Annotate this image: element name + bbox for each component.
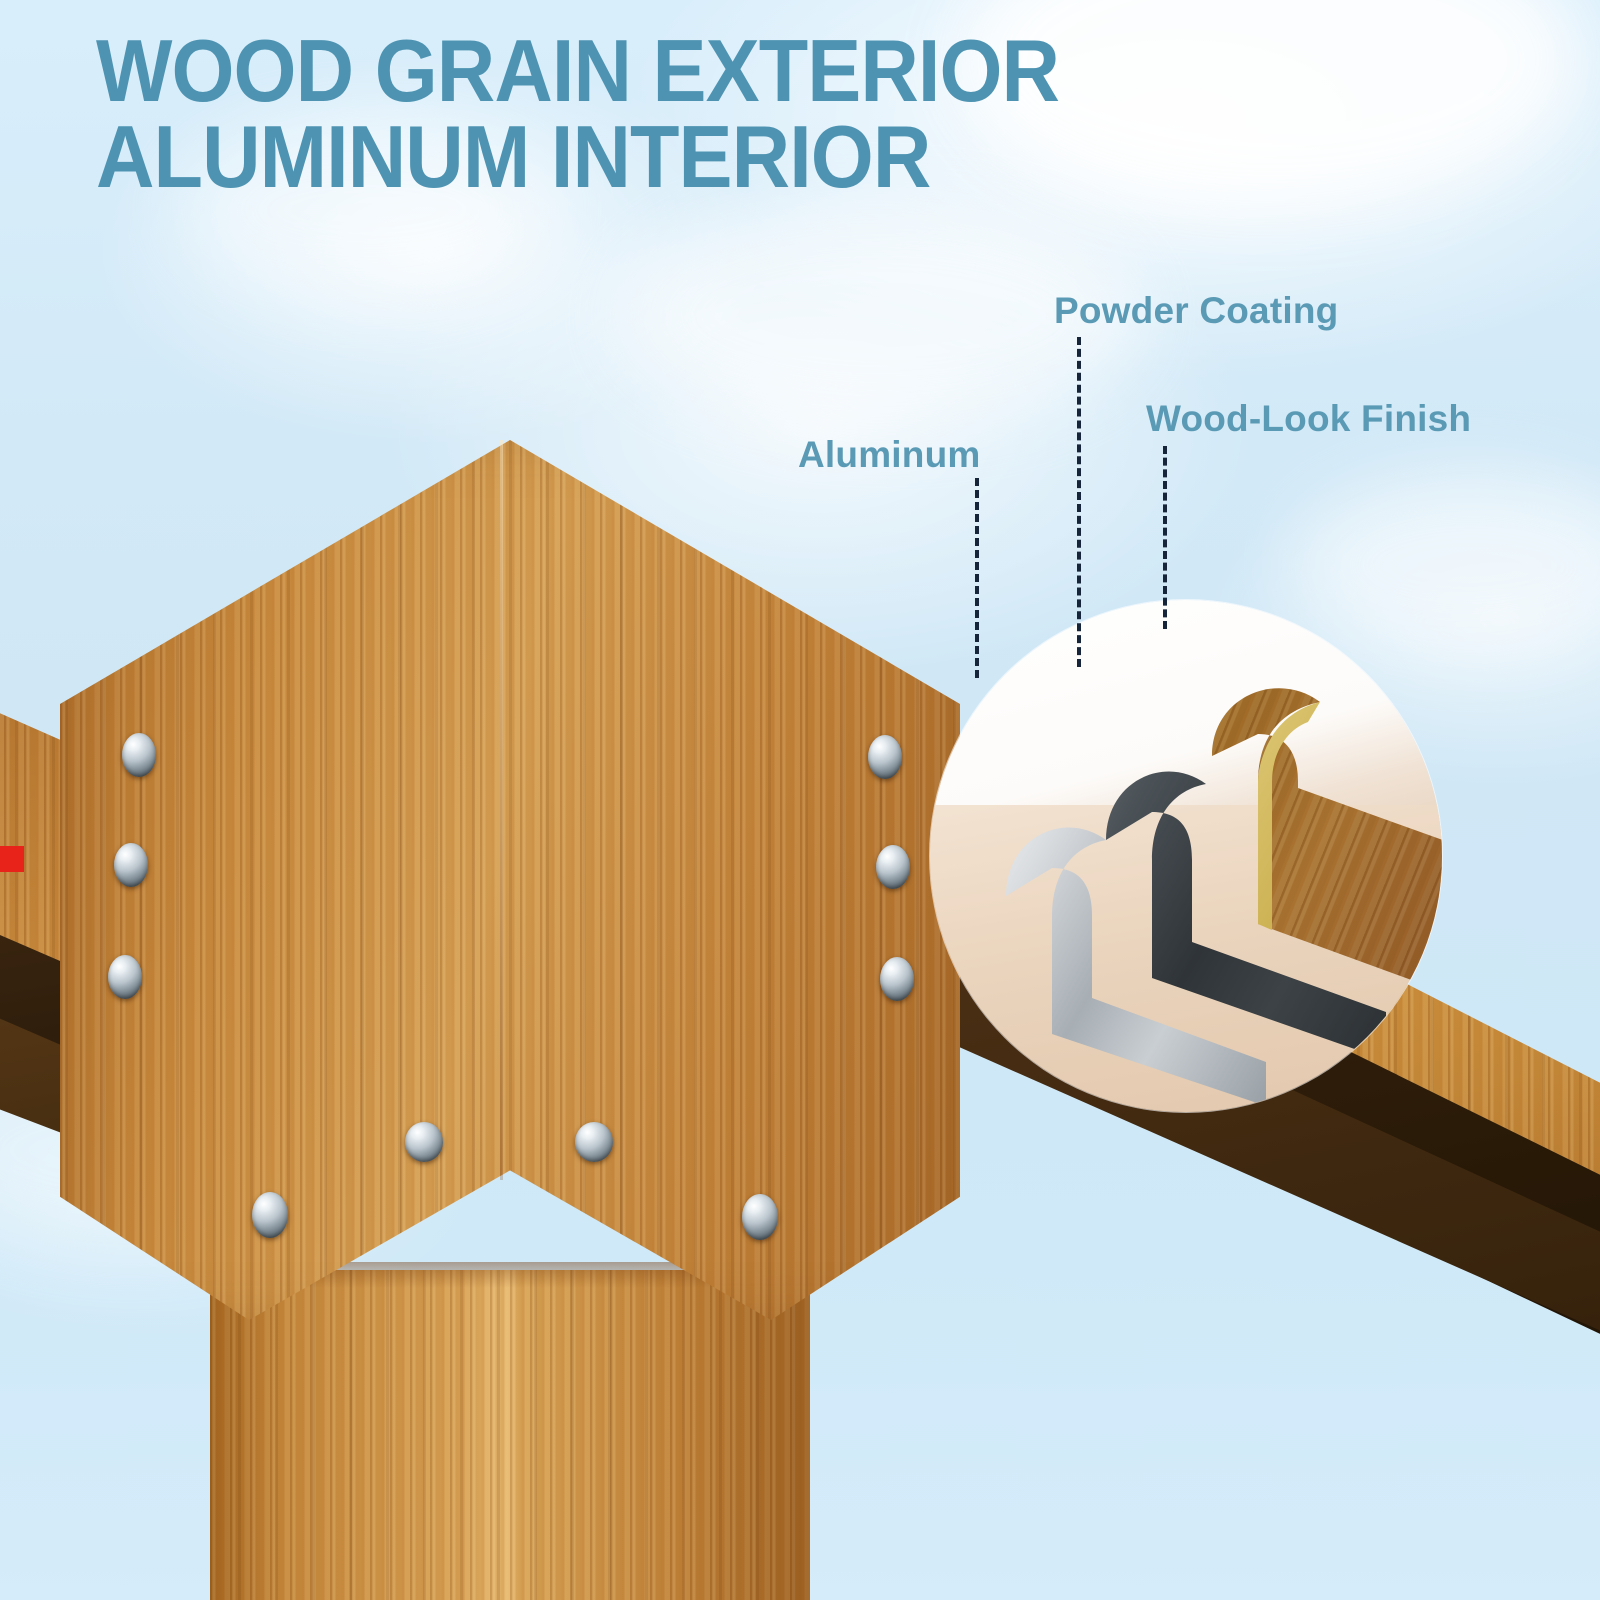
callout-label-powder-coating: Powder Coating bbox=[1054, 290, 1338, 332]
screw bbox=[108, 955, 142, 999]
screw bbox=[742, 1194, 778, 1240]
callout-label-aluminum: Aluminum bbox=[798, 434, 980, 476]
callout-label-wood-look: Wood-Look Finish bbox=[1146, 398, 1471, 440]
screw bbox=[114, 843, 148, 887]
support-post bbox=[210, 1270, 810, 1600]
screw bbox=[122, 733, 156, 777]
screw bbox=[252, 1192, 288, 1238]
leader-line-powder-coating bbox=[1077, 337, 1081, 667]
screw bbox=[880, 957, 914, 1001]
leader-line-aluminum bbox=[975, 478, 979, 678]
screw bbox=[405, 1122, 443, 1162]
red-marker bbox=[0, 846, 24, 872]
cross-section-inset bbox=[930, 600, 1442, 1112]
screw bbox=[575, 1122, 613, 1162]
infographic-canvas: WOOD GRAIN EXTERIOR ALUMINUM INTERIOR Al… bbox=[0, 0, 1600, 1600]
screw bbox=[876, 845, 910, 889]
corner-bracket-ridge bbox=[500, 440, 503, 1180]
page-title: WOOD GRAIN EXTERIOR ALUMINUM INTERIOR bbox=[96, 28, 1292, 200]
leader-line-wood-look bbox=[1163, 446, 1167, 629]
screw bbox=[868, 735, 902, 779]
